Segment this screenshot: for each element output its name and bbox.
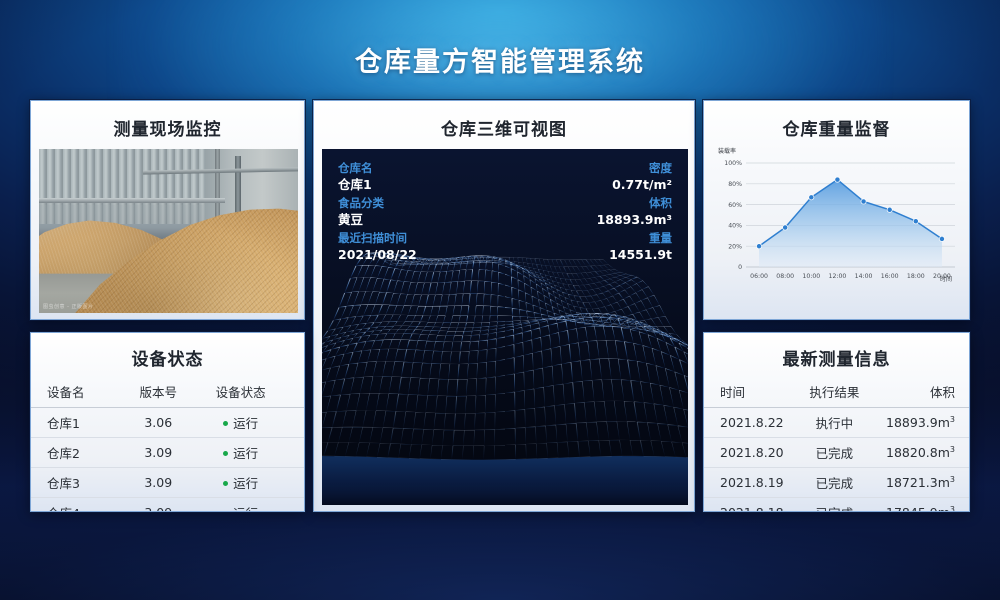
terrain-mesh-line bbox=[386, 322, 390, 327]
terrain-mesh-line bbox=[413, 412, 415, 429]
terrain-mesh-line bbox=[487, 348, 496, 349]
terrain-mesh-line bbox=[637, 284, 642, 290]
terrain-mesh-line bbox=[432, 351, 434, 364]
info-row-labels-3: 最近扫描时间 重量 bbox=[338, 233, 672, 245]
terrain-mesh-line bbox=[580, 361, 582, 382]
terrain-mesh-line bbox=[471, 269, 472, 280]
terrain-mesh-line bbox=[401, 270, 407, 271]
terrain-mesh-line bbox=[353, 343, 357, 352]
terrain-mesh-line bbox=[486, 378, 487, 395]
terrain-mesh-line bbox=[599, 280, 604, 282]
terrain-mesh-line bbox=[359, 278, 364, 292]
terrain-mesh-line bbox=[345, 364, 349, 379]
terrain-mesh-line bbox=[661, 441, 665, 456]
terrain-mesh-line bbox=[658, 424, 668, 425]
terrain-mesh-line bbox=[515, 409, 525, 410]
terrain-mesh-line bbox=[344, 352, 353, 354]
terrain-mesh-line bbox=[610, 274, 615, 277]
terrain-mesh-line bbox=[531, 328, 540, 330]
terrain-mesh-line bbox=[647, 423, 650, 441]
terrain-mesh-line bbox=[483, 306, 484, 316]
terrain-mesh-line bbox=[418, 295, 421, 306]
terrain-mesh-line bbox=[391, 269, 395, 280]
terrain-mesh-line bbox=[412, 330, 415, 334]
warehouse-name-value: 仓库1 bbox=[338, 179, 372, 192]
terrain-mesh-line bbox=[480, 327, 481, 331]
terrain-mesh-line bbox=[578, 441, 580, 457]
terrain-mesh-line bbox=[556, 425, 557, 443]
terrain-mesh-line bbox=[665, 369, 669, 388]
terrain-mesh-line bbox=[628, 304, 634, 307]
terrain-mesh-line bbox=[378, 334, 386, 335]
terrain-mesh-line bbox=[618, 359, 621, 380]
terrain-mesh-line bbox=[543, 366, 552, 368]
terrain-mesh-line bbox=[546, 425, 556, 426]
terrain-mesh-line bbox=[400, 294, 407, 295]
terrain-mesh-line bbox=[359, 323, 367, 324]
terrain-mesh-line bbox=[573, 285, 576, 291]
terrain-mesh-line bbox=[571, 362, 573, 382]
last-scan-value: 2021/08/22 bbox=[338, 249, 417, 262]
terrain-mesh-line bbox=[477, 363, 478, 378]
terrain-mesh-line bbox=[378, 322, 382, 327]
terrain-mesh-line bbox=[421, 283, 424, 295]
terrain-mesh-line bbox=[573, 383, 575, 404]
terrain-mesh-line bbox=[566, 423, 576, 424]
terrain-mesh-line bbox=[605, 322, 613, 323]
terrain-mesh-line bbox=[643, 346, 647, 364]
terrain-mesh-line bbox=[350, 378, 354, 394]
terrain-mesh-line bbox=[621, 325, 629, 327]
terrain-mesh-line bbox=[472, 327, 473, 331]
terrain-mesh-line bbox=[366, 323, 374, 324]
terrain-mesh-line bbox=[341, 306, 346, 319]
status-indicator-dot bbox=[223, 421, 228, 426]
terrain-mesh-line bbox=[416, 395, 418, 412]
terrain-mesh-line bbox=[353, 305, 360, 306]
table-row[interactable]: 仓库33.09运行 bbox=[31, 468, 304, 498]
terrain-mesh-line bbox=[387, 330, 390, 334]
terrain-mesh-line bbox=[552, 364, 561, 366]
terrain-mesh-line bbox=[553, 386, 554, 406]
terrain-mesh-line bbox=[576, 291, 579, 297]
terrain-mesh-line bbox=[619, 290, 625, 293]
terrain-mesh-line bbox=[541, 337, 542, 351]
terrain-mesh-line bbox=[374, 330, 382, 331]
terrain-mesh-line bbox=[644, 319, 651, 320]
terrain-mesh-line bbox=[378, 330, 382, 334]
terrain-mesh-line bbox=[377, 278, 384, 279]
terrain-mesh-line bbox=[517, 272, 523, 276]
terrain-mesh-line bbox=[430, 445, 432, 459]
measure-volume-cell: 18721.3m3 bbox=[866, 468, 969, 498]
terrain-mesh-line bbox=[416, 350, 425, 351]
terrain-mesh-line bbox=[389, 340, 392, 349]
terrain-mesh-line bbox=[578, 285, 581, 291]
terrain-mesh-line bbox=[604, 284, 609, 286]
terrain-mesh-line bbox=[512, 308, 519, 309]
terrain-mesh-line bbox=[595, 276, 600, 277]
terrain-mesh-line bbox=[462, 446, 463, 460]
terrain-mesh-line bbox=[416, 341, 418, 350]
terrain-mesh-line bbox=[340, 354, 344, 366]
status-badge: 运行 bbox=[233, 476, 258, 491]
terrain-mesh-line bbox=[341, 318, 348, 319]
terrain-mesh-line bbox=[382, 326, 386, 330]
terrain-mesh-line bbox=[390, 293, 394, 305]
table-row[interactable]: 仓库23.09运行 bbox=[31, 438, 304, 468]
terrain-mesh-line bbox=[450, 352, 451, 365]
terrain-mesh-line bbox=[599, 359, 601, 380]
terrain-mesh-line bbox=[621, 380, 624, 401]
terrain-mesh-line bbox=[615, 341, 618, 359]
terrain-mesh-line bbox=[540, 328, 541, 337]
terrain-mesh-line bbox=[597, 293, 603, 295]
terrain-mesh-line bbox=[648, 295, 654, 298]
terrain-mesh-line bbox=[595, 300, 601, 301]
terrain-mesh-line bbox=[650, 383, 654, 404]
terrain-mesh-line bbox=[603, 291, 609, 293]
terrain-mesh-line bbox=[441, 323, 443, 328]
terrain-mesh-line bbox=[371, 341, 375, 350]
terrain-mesh-line bbox=[342, 411, 346, 427]
table-row[interactable]: 仓库13.06运行 bbox=[31, 408, 304, 438]
table-row[interactable]: 2021.8.18已完成17845.9m3 bbox=[704, 498, 969, 513]
device-version-cell: 3.06 bbox=[125, 408, 191, 438]
terrain-mesh-line bbox=[626, 314, 633, 316]
terrain-mesh-line bbox=[620, 272, 626, 274]
terrain-mesh-line bbox=[551, 346, 560, 348]
terrain-mesh-line bbox=[631, 277, 637, 280]
terrain-mesh-line bbox=[436, 316, 438, 323]
terrain-mesh-line bbox=[584, 285, 588, 290]
terrain-mesh-line bbox=[511, 277, 517, 280]
terrain-mesh-line bbox=[505, 326, 513, 327]
terrain-mesh-line bbox=[634, 343, 637, 361]
terrain-mesh-line bbox=[580, 308, 586, 309]
terrain-mesh-line bbox=[339, 306, 346, 307]
terrain-mesh-line bbox=[322, 412, 326, 428]
terrain-mesh-line bbox=[505, 374, 514, 376]
terrain-mesh-line bbox=[550, 332, 559, 334]
terrain-mesh-line bbox=[420, 316, 423, 323]
terrain-mesh-line bbox=[648, 287, 654, 296]
terrain-mesh-line bbox=[557, 442, 567, 443]
terrain-mesh-line bbox=[470, 281, 471, 294]
chart-plot bbox=[756, 177, 944, 267]
terrain-mesh-line bbox=[626, 280, 632, 283]
terrain-mesh-line bbox=[599, 282, 603, 286]
terrain-mesh-line bbox=[434, 413, 436, 430]
terrain-mesh-line bbox=[534, 387, 544, 389]
table-row[interactable]: 2021.8.19已完成18721.3m3 bbox=[704, 468, 969, 498]
terrain-mesh-line bbox=[613, 296, 617, 302]
terrain-mesh-line bbox=[536, 426, 546, 427]
terrain-mesh-line bbox=[362, 323, 366, 329]
terrain-mesh-line bbox=[445, 306, 447, 316]
device-name-cell: 仓库4 bbox=[31, 498, 125, 513]
terrain-mesh-line bbox=[565, 403, 575, 404]
terrain-mesh-line bbox=[595, 271, 600, 272]
info-row-values-2: 黄豆 18893.9m³ bbox=[338, 214, 672, 227]
terrain-mesh-line bbox=[366, 278, 371, 292]
terrain-mesh-line bbox=[361, 292, 366, 306]
terrain-mesh-line bbox=[406, 395, 408, 412]
terrain-mesh-line bbox=[453, 336, 454, 342]
chart-data-point[interactable] bbox=[913, 219, 918, 224]
terrain-mesh-line bbox=[483, 294, 484, 306]
chart-x-tick: 18:00 bbox=[907, 273, 925, 280]
terrain-mesh-line bbox=[550, 335, 551, 349]
col-device-version: 版本号 bbox=[125, 379, 191, 408]
terrain-mesh-line bbox=[444, 336, 446, 342]
terrain-mesh-line bbox=[568, 285, 573, 286]
terrain-mesh-line bbox=[437, 331, 439, 335]
terrain-mesh-line bbox=[634, 402, 644, 403]
terrain-mesh-line bbox=[637, 281, 643, 284]
terrain-mesh-line bbox=[552, 366, 553, 386]
terrain-mesh-line bbox=[522, 330, 531, 332]
device-version-cell: 3.09 bbox=[125, 468, 191, 498]
terrain-mesh-line bbox=[530, 323, 538, 325]
terrain-mesh-line bbox=[555, 277, 560, 278]
category-label: 食品分类 bbox=[338, 198, 384, 210]
chart-data-point[interactable] bbox=[887, 207, 892, 212]
terrain-mesh-line bbox=[340, 394, 350, 395]
terrain-mesh-line bbox=[459, 316, 460, 323]
terrain-mesh-line bbox=[562, 364, 563, 384]
terrain-mesh-line bbox=[632, 328, 636, 329]
terrain-mesh-line bbox=[489, 326, 497, 327]
terrain-mesh-line bbox=[597, 422, 599, 440]
col-device-status: 设备状态 bbox=[191, 379, 304, 408]
terrain-mesh-line bbox=[468, 351, 469, 364]
terrain-mesh-line bbox=[646, 310, 651, 319]
terrain-mesh-line bbox=[467, 364, 468, 379]
terrain-mesh-line bbox=[607, 296, 613, 299]
table-row[interactable]: 2021.8.20已完成18820.8m3 bbox=[704, 438, 969, 468]
terrain-mesh-line bbox=[532, 340, 533, 353]
terrain-mesh-line bbox=[482, 316, 483, 323]
terrain-mesh-line bbox=[532, 337, 541, 339]
terrain-mesh-line bbox=[485, 281, 492, 282]
terrain-mesh-line bbox=[596, 315, 599, 321]
chart-x-tick: 10:00 bbox=[802, 273, 820, 280]
terrain-mesh-line bbox=[474, 413, 475, 430]
terrain-mesh-line bbox=[487, 361, 496, 362]
terrain-mesh-line bbox=[420, 378, 429, 379]
terrain-mesh-line bbox=[598, 286, 604, 288]
terrain-mesh-line bbox=[345, 278, 351, 293]
terrain-mesh-line bbox=[661, 441, 671, 442]
terrain-mesh-line bbox=[641, 298, 647, 301]
terrain-mesh-line bbox=[393, 411, 396, 428]
terrain-mesh-line bbox=[526, 303, 533, 305]
density-value: 0.77t/m² bbox=[612, 179, 672, 192]
terrain-mesh-line bbox=[557, 321, 566, 323]
terrain-mesh-line bbox=[606, 340, 609, 358]
chart-data-point[interactable] bbox=[756, 244, 761, 249]
chart-data-point[interactable] bbox=[939, 236, 944, 241]
terrain-mesh-line bbox=[555, 404, 565, 405]
terrain-mesh-line bbox=[512, 298, 519, 300]
terrain-mesh-line bbox=[458, 364, 459, 379]
terrain-mesh-line bbox=[680, 341, 685, 344]
terrain-mesh-line bbox=[636, 290, 642, 293]
terrain-mesh-line bbox=[396, 394, 399, 411]
terrain-mesh-line bbox=[582, 380, 592, 381]
table-row[interactable]: 仓库43.09运行 bbox=[31, 498, 304, 513]
measure-time-cell: 2021.8.20 bbox=[704, 438, 803, 468]
terrain-mesh-line bbox=[371, 305, 375, 316]
terrain-mesh-line bbox=[349, 363, 358, 364]
terrain-mesh-line bbox=[457, 323, 458, 328]
warehouse-3d-viewport[interactable]: 仓库名 密度 仓库1 0.77t/m² 食品分类 体积 黄豆 18893.9m³… bbox=[322, 149, 688, 505]
chart-y-tick: 100% bbox=[724, 160, 742, 167]
terrain-mesh-line bbox=[339, 293, 345, 308]
device-table-body: 仓库13.06运行仓库23.09运行仓库33.09运行仓库43.09运行 bbox=[31, 408, 304, 513]
terrain-mesh-line bbox=[514, 333, 523, 335]
terrain-mesh-line bbox=[682, 443, 688, 444]
measure-time-cell: 2021.8.19 bbox=[704, 468, 803, 498]
terrain-mesh-line bbox=[553, 272, 558, 273]
terrain-mesh-line bbox=[421, 330, 423, 334]
terrain-mesh-line bbox=[625, 287, 631, 290]
terrain-mesh-line bbox=[417, 322, 420, 326]
terrain-mesh-line bbox=[366, 315, 370, 323]
terrain-mesh-line bbox=[333, 319, 340, 321]
terrain-mesh-line bbox=[671, 326, 677, 334]
terrain-mesh-line bbox=[620, 282, 626, 285]
terrain-mesh-line bbox=[391, 280, 398, 281]
terrain-mesh-line bbox=[492, 282, 499, 283]
terrain-mesh-line bbox=[532, 296, 539, 299]
terrain-mesh-line bbox=[454, 294, 456, 306]
chart-data-point[interactable] bbox=[861, 199, 866, 204]
terrain-mesh-line bbox=[359, 427, 362, 442]
terrain-mesh-line bbox=[580, 279, 584, 285]
col-measure-time: 时间 bbox=[704, 379, 803, 408]
terrain-mesh-line bbox=[599, 307, 605, 308]
info-row-labels-2: 食品分类 体积 bbox=[338, 198, 672, 210]
status-badge: 运行 bbox=[233, 416, 258, 431]
terrain-mesh-line bbox=[623, 296, 629, 299]
terrain-mesh-line bbox=[611, 302, 617, 305]
terrain-mesh-line bbox=[334, 442, 338, 456]
terrain-mesh-line bbox=[426, 295, 429, 306]
terrain-mesh-line bbox=[634, 402, 637, 422]
terrain-mesh-line bbox=[415, 326, 418, 329]
terrain-mesh-line bbox=[524, 283, 525, 292]
chart-data-point[interactable] bbox=[809, 195, 814, 200]
terrain-mesh-line bbox=[346, 394, 350, 411]
table-header-row: 时间 执行结果 体积 bbox=[704, 379, 969, 408]
terrain-mesh-line bbox=[637, 361, 640, 381]
terrain-mesh-line bbox=[353, 351, 362, 352]
terrain-mesh-line bbox=[352, 278, 357, 292]
terrain-mesh-line bbox=[533, 305, 534, 313]
terrain-mesh-line bbox=[335, 379, 344, 380]
measure-panel-title: 最新测量信息 bbox=[704, 345, 969, 370]
terrain-mesh-line bbox=[643, 281, 649, 287]
terrain-mesh-line bbox=[651, 441, 654, 457]
terrain-mesh-line bbox=[466, 316, 467, 323]
chart-data-point[interactable] bbox=[783, 225, 788, 230]
status-indicator-dot bbox=[223, 451, 228, 456]
table-row[interactable]: 2021.8.22执行中18893.9m3 bbox=[704, 408, 969, 438]
terrain-mesh-line bbox=[460, 270, 466, 271]
chart-y-tick: 60% bbox=[728, 202, 742, 209]
terrain-mesh-line bbox=[433, 342, 435, 351]
terrain-mesh-line bbox=[654, 404, 664, 406]
terrain-mesh-line bbox=[660, 305, 666, 316]
terrain-mesh-line bbox=[422, 429, 424, 444]
terrain-mesh-line bbox=[575, 280, 578, 286]
terrain-mesh-line bbox=[591, 272, 596, 273]
terrain-mesh-line bbox=[373, 411, 376, 428]
terrain-mesh-line bbox=[541, 335, 550, 337]
measure-time-cell: 2021.8.22 bbox=[704, 408, 803, 438]
terrain-mesh-line bbox=[660, 385, 664, 405]
terrain-mesh-line bbox=[563, 284, 568, 285]
terrain-mesh-line bbox=[560, 278, 565, 279]
terrain-mesh-line bbox=[412, 315, 415, 321]
terrain-mesh-line bbox=[351, 317, 356, 326]
terrain-mesh-line bbox=[589, 284, 593, 289]
terrain-mesh-line bbox=[393, 281, 397, 294]
col-device-name: 设备名 bbox=[31, 379, 125, 408]
measure-time-cell: 2021.8.18 bbox=[704, 498, 803, 513]
terrain-mesh-line bbox=[593, 289, 597, 294]
terrain-mesh-line bbox=[401, 306, 404, 315]
terrain-mesh-line bbox=[354, 377, 363, 378]
terrain-mesh-line bbox=[565, 279, 568, 285]
terrain-mesh-line bbox=[408, 395, 418, 396]
device-name-cell: 仓库2 bbox=[31, 438, 125, 468]
camera-feed-image[interactable]: 图虫创意 - 正版图片 bbox=[39, 149, 298, 313]
terrain-mesh-line bbox=[477, 281, 478, 294]
loading-rate-chart[interactable]: 020%40%60%80%100% 06:0008:0010:0012:0014… bbox=[712, 141, 963, 313]
terrain-mesh-line bbox=[431, 272, 434, 283]
terrain-mesh-line bbox=[600, 270, 605, 271]
chart-x-tick: 16:00 bbox=[881, 273, 899, 280]
terrain-mesh-line bbox=[345, 443, 349, 457]
terrain-mesh-line bbox=[382, 315, 386, 322]
terrain-mesh-line bbox=[661, 352, 665, 369]
terrain-mesh-line bbox=[478, 269, 479, 281]
terrain-mesh-line bbox=[330, 366, 339, 368]
terrain-mesh-line bbox=[498, 307, 505, 308]
terrain-mesh-line bbox=[578, 341, 587, 342]
terrain-mesh-line bbox=[322, 368, 330, 370]
terrain-mesh-line bbox=[346, 306, 353, 307]
chart-data-point[interactable] bbox=[835, 177, 840, 182]
terrain-mesh-line bbox=[376, 393, 379, 410]
terrain-mesh-line bbox=[404, 294, 407, 305]
terrain-mesh-line bbox=[605, 274, 610, 275]
terrain-mesh-line bbox=[463, 331, 464, 335]
terrain-mesh-line bbox=[463, 430, 464, 445]
terrain-mesh-line bbox=[555, 406, 556, 425]
terrain-mesh-line bbox=[545, 303, 546, 310]
terrain-mesh-line bbox=[514, 342, 523, 344]
terrain-mesh-line bbox=[526, 303, 527, 311]
terrain-mesh-line bbox=[348, 317, 355, 318]
terrain-mesh-line bbox=[553, 384, 563, 386]
terrain-mesh-line bbox=[556, 424, 566, 425]
terrain-mesh-line bbox=[515, 428, 525, 429]
measurement-info-panel: 最新测量信息 时间 执行结果 体积 2021.8.22执行中18893.9m32… bbox=[703, 332, 970, 512]
